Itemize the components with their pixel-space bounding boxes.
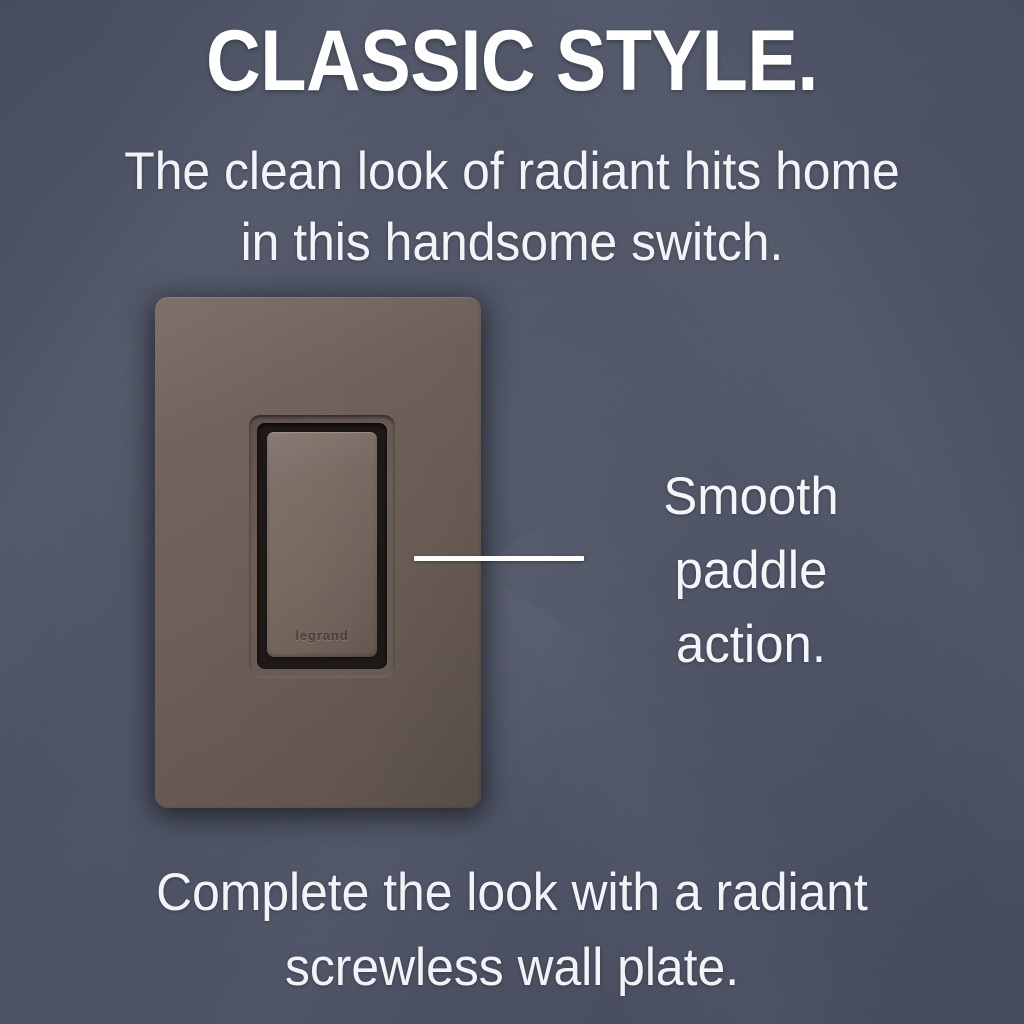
callout-leader-line [414,556,584,561]
bottom-caption-line-1: Complete the look with a radiant [59,855,965,930]
paddle-frame: legrand [249,415,395,677]
callout-line-3: action. [602,608,900,682]
subtitle-line-2: in this handsome switch. [59,207,965,278]
bottom-caption-line-2: screwless wall plate. [59,930,965,1005]
promo-image-canvas: CLASSIC STYLE. The clean look of radiant… [0,0,1024,1024]
callout-text: Smooth paddle action. [602,460,900,683]
headline: CLASSIC STYLE. [61,16,962,106]
bottom-caption: Complete the look with a radiant screwle… [59,855,965,1006]
wall-plate: legrand [155,297,481,808]
legrand-brand-label: legrand [295,628,348,643]
paddle-shadow-gap: legrand [257,423,387,669]
subtitle: The clean look of radiant hits home in t… [59,136,965,278]
subtitle-line-1: The clean look of radiant hits home [59,136,965,207]
callout-line-2: paddle [602,534,900,608]
callout-line-1: Smooth [602,460,900,534]
paddle-switch[interactable]: legrand [267,432,377,657]
